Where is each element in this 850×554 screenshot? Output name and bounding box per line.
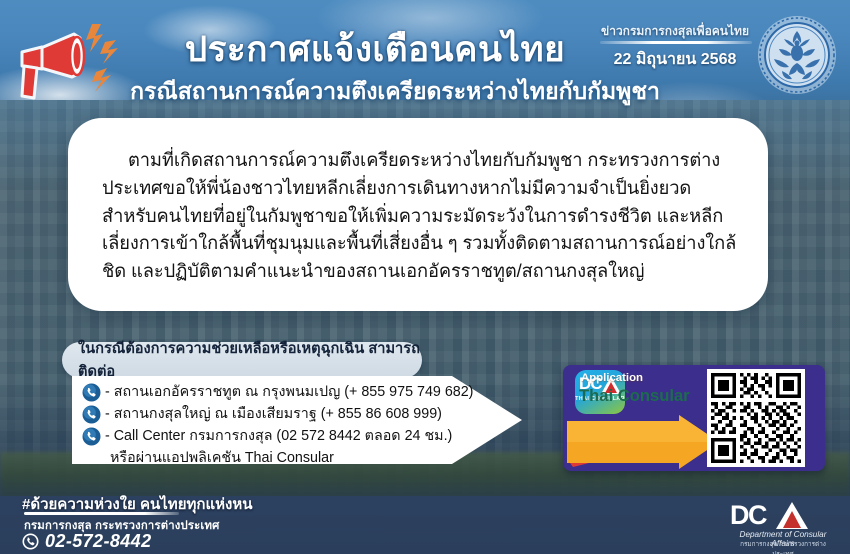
contact-list-item: - Call Center กรมการกงสุล (02 572 8442 ต… xyxy=(82,426,482,448)
dca-logo-triangle-inner xyxy=(783,511,801,528)
contact-item-text: - สถานเอกอัครราชทูต ณ กรุงพนมเปญ (+ 855 … xyxy=(105,382,473,403)
poster-root: ประกาศแจ้งเตือนคนไทย กรณีสถานการณ์ความตึ… xyxy=(0,0,850,554)
contact-list: - สถานเอกอัครราชทูต ณ กรุงพนมเปญ (+ 855 … xyxy=(82,382,482,469)
page-title: ประกาศแจ้งเตือนคนไทย xyxy=(140,22,610,77)
contact-heading-pill: ในกรณีต้องการความช่วยเหลือหรือเหตุฉุกเฉิ… xyxy=(62,342,422,378)
arrow-right-banner-icon xyxy=(567,415,723,469)
contact-list-item: - สถานกงสุลใหญ่ ณ เมืองเสียมราฐ (+ 855 8… xyxy=(82,404,482,426)
dca-logo: DC Department of Consular Affairs กรมการ… xyxy=(730,500,838,548)
announcement-body-text: ตามที่เกิดสถานการณ์ความตึงเครียดระหว่างไ… xyxy=(102,146,738,285)
footer-telephone: 02-572-8442 xyxy=(45,531,152,552)
footer-divider xyxy=(24,512,179,515)
megaphone-announcement-icon xyxy=(8,14,126,110)
news-source-label: ข่าวกรมการกงสุลเพื่อคนไทย xyxy=(600,22,750,41)
contact-item-text: - Call Center กรมการกงสุล (02 572 8442 ต… xyxy=(105,426,452,447)
thai-consular-app-banner[interactable]: DC THAI CONSULAR Application Thai Consul… xyxy=(563,365,825,471)
phone-icon xyxy=(82,427,101,446)
phone-icon xyxy=(82,383,101,402)
dca-logo-thai-name: กรมการกงสุล กระทรวงการต่างประเทศ xyxy=(730,539,836,554)
phone-icon xyxy=(22,533,39,550)
news-divider xyxy=(600,41,752,44)
dca-logo-dc-text: DC xyxy=(730,500,766,531)
contact-list-item: - สถานเอกอัครราชทูต ณ กรุงพนมเปญ (+ 855 … xyxy=(82,382,482,404)
header: ประกาศแจ้งเตือนคนไทย กรณีสถานการณ์ความตึ… xyxy=(0,0,850,118)
announcement-card: ตามที่เกิดสถานการณ์ความตึงเครียดระหว่างไ… xyxy=(68,118,768,311)
app-banner-line2: Thai Consular xyxy=(579,386,707,406)
contact-item-text: - สถานกงสุลใหญ่ ณ เมืองเสียมราฐ (+ 855 8… xyxy=(105,404,442,425)
publication-date: 22 มิถุนายน 2568 xyxy=(600,47,750,72)
thai-mfa-emblem-icon xyxy=(754,13,840,97)
phone-icon xyxy=(82,405,101,424)
app-banner-line1: Application xyxy=(581,372,701,384)
thai-consular-qr-code[interactable] xyxy=(707,369,805,467)
contact-app-note: หรือผ่านแอปพลิเคชัน Thai Consular xyxy=(110,448,482,469)
page-subtitle: กรณีสถานการณ์ความตึงเครียดระหว่างไทยกับก… xyxy=(115,74,675,110)
